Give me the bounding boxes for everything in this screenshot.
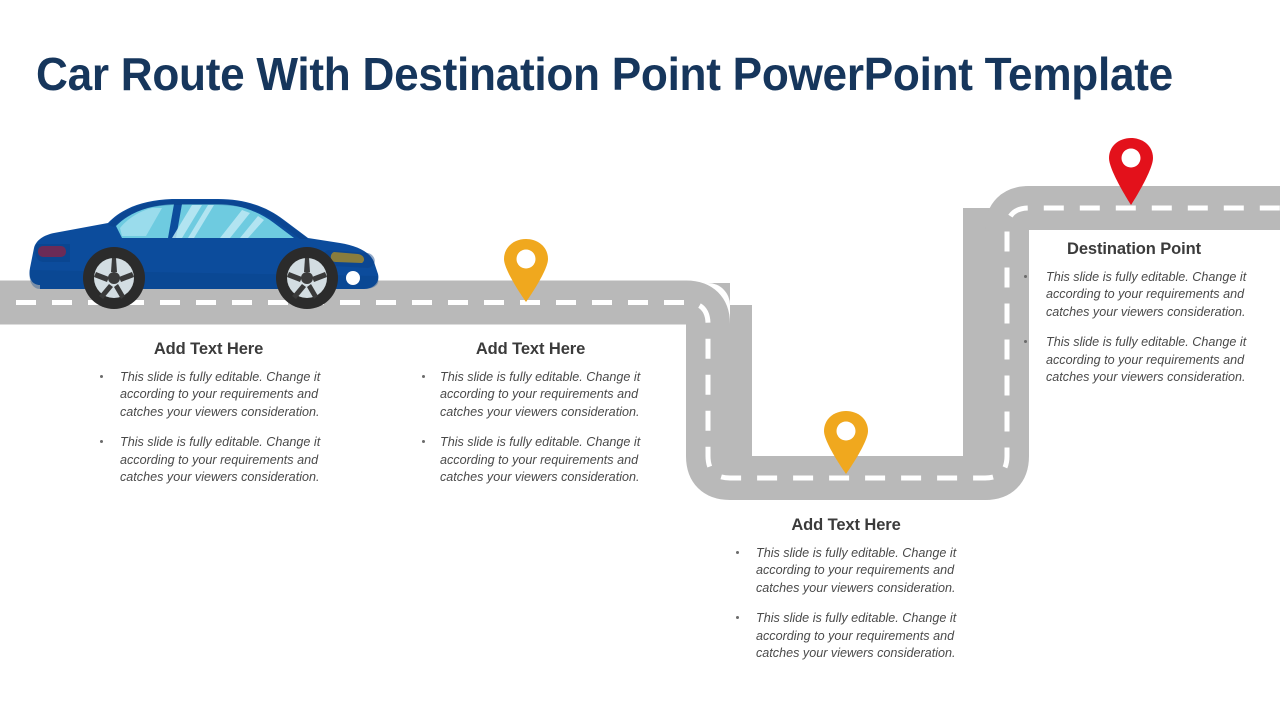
pin-hole [517, 250, 536, 269]
bullet-list: This slide is fully editable. Change it … [1020, 269, 1248, 386]
car-taillight-housing [35, 244, 70, 262]
block-heading: Add Text Here [96, 340, 321, 359]
bullet-text: This slide is fully editable. Change it … [440, 435, 640, 484]
page-title: Car Route With Destination Point PowerPo… [36, 47, 1173, 101]
list-item: This slide is fully editable. Change it … [732, 610, 960, 662]
pin-hole [837, 422, 856, 441]
list-item: This slide is fully editable. Change it … [96, 369, 321, 421]
bullet-dot-icon [1024, 340, 1027, 343]
bullet-text: This slide is fully editable. Change it … [756, 546, 956, 595]
bullet-dot-icon [422, 375, 425, 378]
bullet-text: This slide is fully editable. Change it … [120, 370, 320, 419]
bullet-list: This slide is fully editable. Change it … [96, 369, 321, 486]
list-item: This slide is fully editable. Change it … [418, 434, 643, 486]
block-heading: Destination Point [1020, 240, 1248, 259]
bullet-text: This slide is fully editable. Change it … [1046, 270, 1246, 319]
car-rear-wheel [83, 247, 145, 309]
list-item: This slide is fully editable. Change it … [96, 434, 321, 486]
list-item: This slide is fully editable. Change it … [418, 369, 643, 421]
text-block-2: Add Text Here This slide is fully editab… [418, 340, 643, 486]
bullet-list: This slide is fully editable. Change it … [732, 545, 960, 662]
slide-canvas: Car Route With Destination Point PowerPo… [0, 0, 1280, 720]
bullet-text: This slide is fully editable. Change it … [120, 435, 320, 484]
pin-shape [824, 411, 868, 474]
pin-hole [1122, 149, 1141, 168]
route-stop-marker-1 [503, 238, 549, 303]
bullet-text: This slide is fully editable. Change it … [756, 611, 956, 660]
list-item: This slide is fully editable. Change it … [732, 545, 960, 597]
bullet-list: This slide is fully editable. Change it … [418, 369, 643, 486]
car-fog-light [346, 271, 360, 285]
blue-sedan-car-icon [22, 190, 392, 315]
bullet-dot-icon [100, 375, 103, 378]
bullet-text: This slide is fully editable. Change it … [440, 370, 640, 419]
bullet-dot-icon [736, 551, 739, 554]
bullet-dot-icon [100, 440, 103, 443]
text-block-1: Add Text Here This slide is fully editab… [96, 340, 321, 486]
pin-shape [1109, 138, 1153, 205]
list-item: This slide is fully editable. Change it … [1020, 334, 1248, 386]
car-front-wheel [276, 247, 338, 309]
text-block-destination: Destination Point This slide is fully ed… [1020, 240, 1248, 386]
bullet-text: This slide is fully editable. Change it … [1046, 335, 1246, 384]
pin-shape [504, 239, 548, 302]
bullet-dot-icon [1024, 275, 1027, 278]
block-heading: Add Text Here [732, 516, 960, 535]
text-block-3: Add Text Here This slide is fully editab… [732, 516, 960, 662]
bullet-dot-icon [736, 616, 739, 619]
list-item: This slide is fully editable. Change it … [1020, 269, 1248, 321]
route-stop-marker-2 [823, 410, 869, 475]
bullet-dot-icon [422, 440, 425, 443]
destination-marker [1108, 137, 1154, 206]
block-heading: Add Text Here [418, 340, 643, 359]
